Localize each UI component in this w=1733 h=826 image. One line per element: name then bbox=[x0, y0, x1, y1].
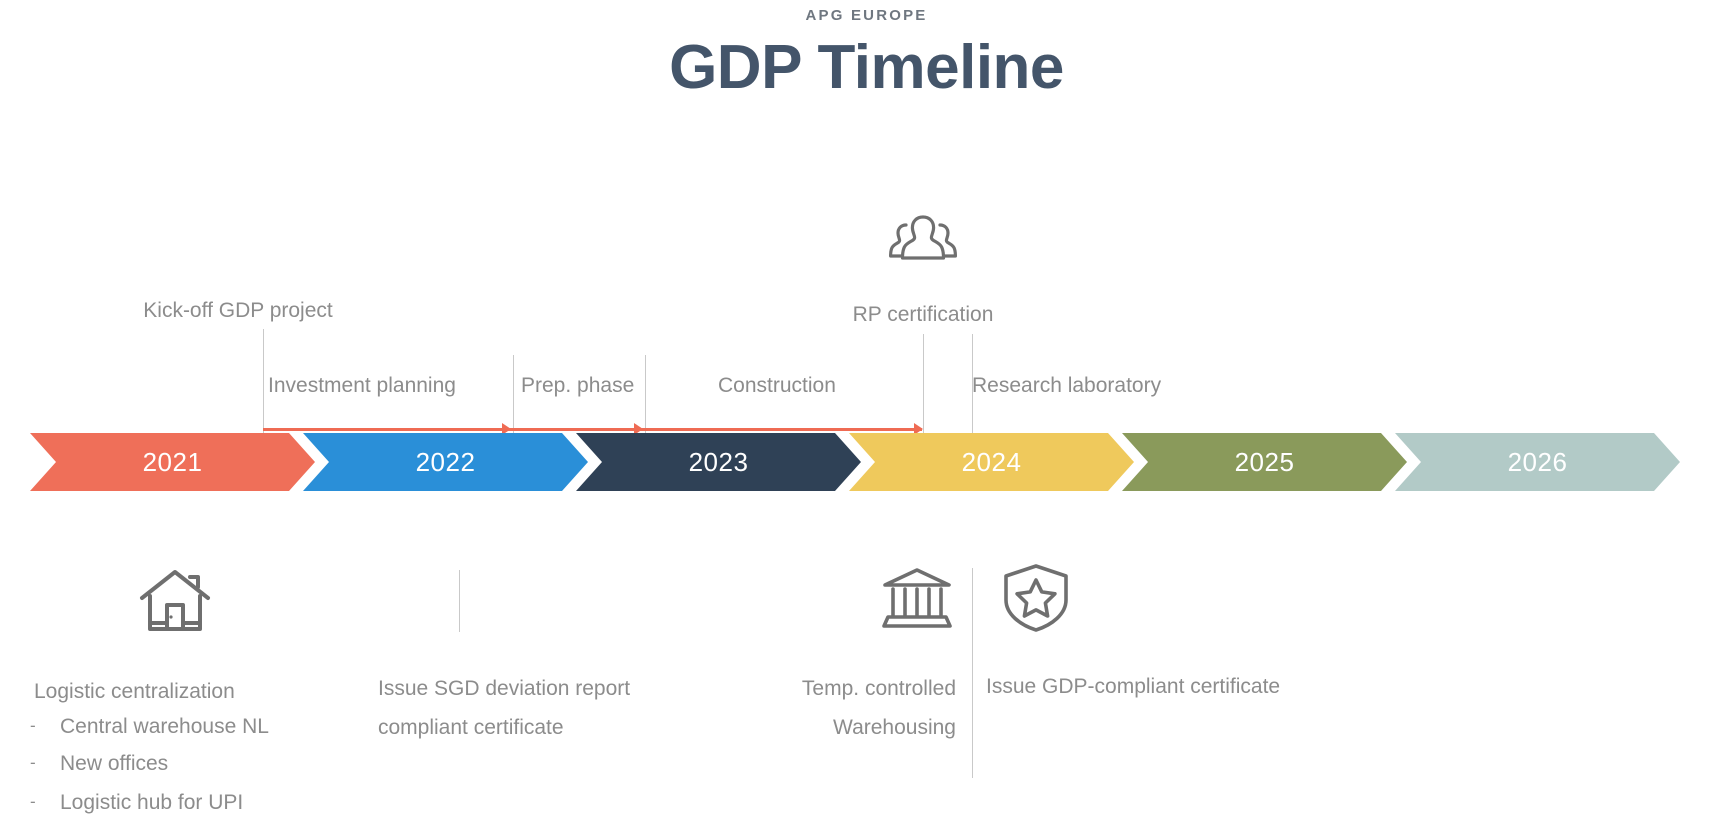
logistic-centralization-title: Logistic centralization bbox=[34, 676, 235, 708]
kicker-text: APG EUROPE bbox=[0, 7, 1733, 24]
bullet-central-warehouse: Central warehouse NL bbox=[60, 711, 269, 743]
year-chevron-2025[interactable]: 2025 bbox=[1122, 433, 1407, 491]
shield-star-icon bbox=[1000, 562, 1072, 634]
year-chevron-2023[interactable]: 2023 bbox=[576, 433, 861, 491]
year-chevron-2021[interactable]: 2021 bbox=[30, 433, 315, 491]
connector-line-rp-certification bbox=[923, 334, 924, 439]
year-chevron-2024[interactable]: 2024 bbox=[849, 433, 1134, 491]
connector-line-sgd bbox=[459, 570, 460, 632]
bullet-new-offices: New offices bbox=[60, 748, 168, 780]
page-title: GDP Timeline bbox=[0, 32, 1733, 103]
phase-divider-2 bbox=[645, 355, 646, 439]
sgd-report-line-1: Issue SGD deviation report bbox=[378, 673, 630, 705]
milestone-research-laboratory-label: Research laboratory bbox=[972, 370, 1161, 402]
year-chevron-2026[interactable]: 2026 bbox=[1395, 433, 1680, 491]
bullet-dash-1: - bbox=[30, 713, 36, 739]
people-icon bbox=[883, 212, 963, 270]
temp-controlled-line-2: Warehousing bbox=[620, 712, 956, 744]
connector-line-gdp-certificate bbox=[972, 568, 973, 778]
bullet-dash-2: - bbox=[30, 750, 36, 776]
gdp-certificate-label: Issue GDP-compliant certificate bbox=[986, 671, 1280, 703]
milestone-rp-certification-label: RP certification bbox=[773, 299, 1073, 331]
bank-icon bbox=[880, 565, 954, 631]
year-chevron-2022[interactable]: 2022 bbox=[303, 433, 588, 491]
phase-construction-label: Construction bbox=[718, 370, 836, 402]
house-icon bbox=[138, 567, 212, 635]
milestone-kickoff-label: Kick-off GDP project bbox=[38, 295, 438, 327]
bullet-dash-3: - bbox=[30, 789, 36, 815]
phase-arrow-track bbox=[263, 428, 922, 431]
sgd-report-line-2: compliant certificate bbox=[378, 712, 564, 744]
connector-line-kickoff bbox=[263, 329, 264, 439]
timeline-diagram: APG EUROPE GDP Timeline Kick-off GDP pro… bbox=[0, 0, 1733, 826]
bullet-logistic-hub: Logistic hub for UPI bbox=[60, 787, 243, 819]
temp-controlled-line-1: Temp. controlled bbox=[620, 673, 956, 705]
connector-line-research-laboratory bbox=[972, 334, 973, 439]
phase-divider-1 bbox=[513, 355, 514, 439]
phase-investment-planning-label: Investment planning bbox=[268, 370, 456, 402]
phase-prep-phase-label: Prep. phase bbox=[521, 370, 634, 402]
